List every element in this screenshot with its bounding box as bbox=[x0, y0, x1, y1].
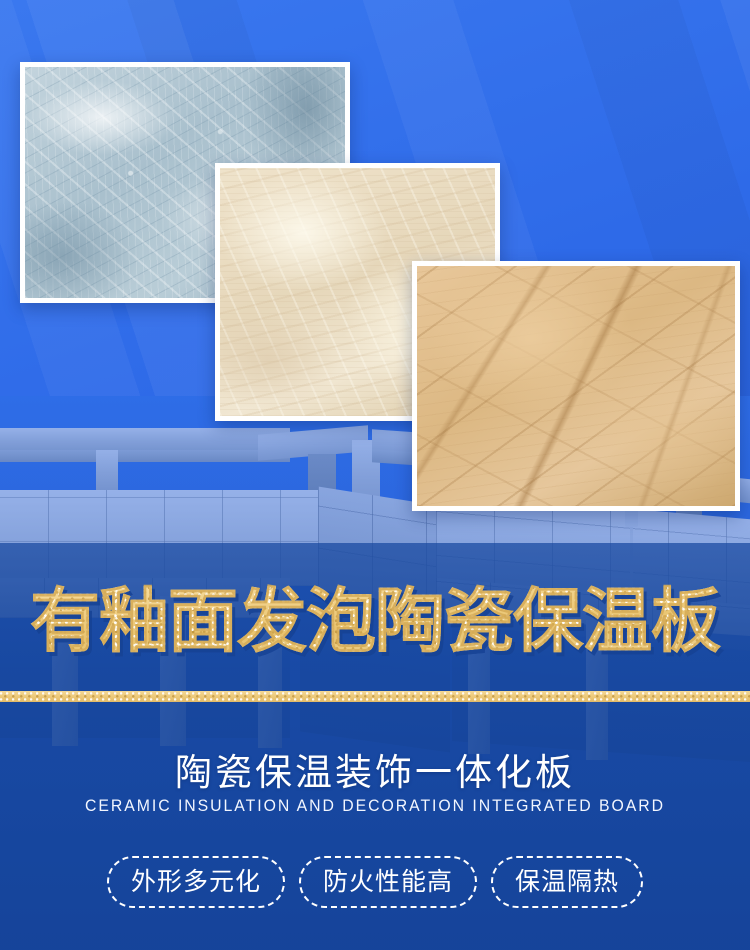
feature-pill-thermal-insulation[interactable]: 保温隔热 bbox=[491, 856, 643, 908]
feature-pill-fire-resistance[interactable]: 防火性能高 bbox=[299, 856, 477, 908]
tan-marble-tile bbox=[412, 261, 740, 511]
feature-pill-shape-variety[interactable]: 外形多元化 bbox=[107, 856, 285, 908]
subtitle-english: CERAMIC INSULATION AND DECORATION INTEGR… bbox=[26, 796, 724, 816]
headline-container: 有釉面发泡陶瓷保温板 bbox=[0, 586, 750, 656]
tan-marble-texture bbox=[417, 266, 735, 506]
product-banner: 有釉面发泡陶瓷保温板 陶瓷保温装饰一体化板 CERAMIC INSULATION… bbox=[0, 0, 750, 950]
subtitle-chinese: 陶瓷保温装饰一体化板 bbox=[0, 742, 750, 796]
feature-pill-list: 外形多元化 防火性能高 保温隔热 bbox=[0, 856, 750, 908]
gold-divider-bar bbox=[0, 691, 750, 702]
headline-text: 有釉面发泡陶瓷保温板 bbox=[30, 586, 720, 656]
